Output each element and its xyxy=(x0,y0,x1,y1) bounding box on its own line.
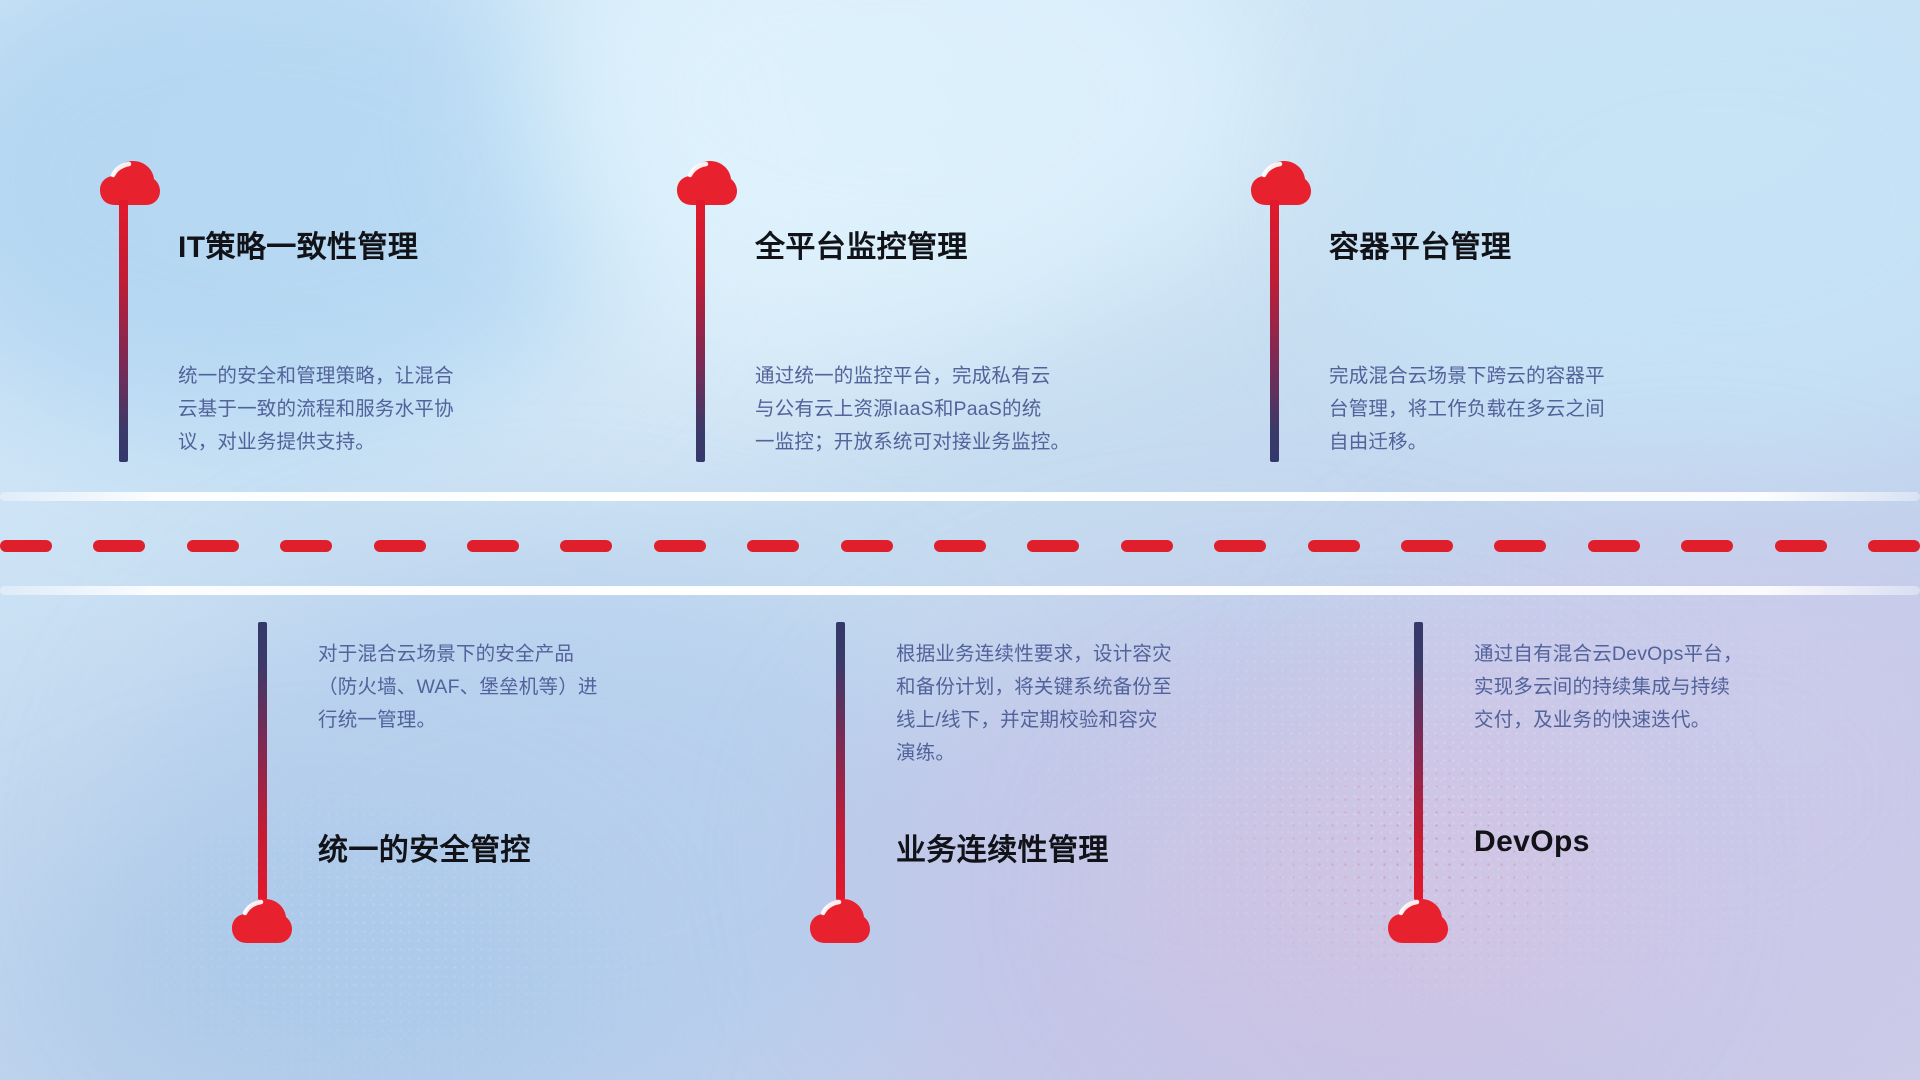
card-title: 容器平台管理 xyxy=(1329,222,1511,266)
card-title: 业务连续性管理 xyxy=(896,825,1109,869)
divider-dash xyxy=(467,540,519,552)
cloud-icon xyxy=(1251,160,1311,206)
infographic-canvas: IT策略一致性管理 统一的安全和管理策略，让混合 云基于一致的流程和服务水平协 … xyxy=(0,0,1920,1080)
card-description: 通过自有混合云DevOps平台， 实现多云间的持续集成与持续 交付，及业务的快速… xyxy=(1474,638,1904,737)
divider-dash xyxy=(654,540,706,552)
divider-dash xyxy=(1868,540,1920,552)
divider-dash xyxy=(934,540,986,552)
cloud-icon xyxy=(1388,898,1448,944)
divider-dash xyxy=(1308,540,1360,552)
divider-dash xyxy=(187,540,239,552)
divider-dash xyxy=(1681,540,1733,552)
connector-stem xyxy=(258,622,267,900)
divider-dash xyxy=(0,540,52,552)
divider-rule-bottom xyxy=(0,586,1920,595)
divider-dash xyxy=(1401,540,1453,552)
connector-stem xyxy=(696,200,705,462)
background-blob xyxy=(1340,520,1920,1060)
divider-dash xyxy=(1775,540,1827,552)
divider-dash xyxy=(1494,540,1546,552)
connector-stem xyxy=(1270,200,1279,462)
cloud-icon xyxy=(810,898,870,944)
card-description: 对于混合云场景下的安全产品 （防火墙、WAF、堡垒机等）进 行统一管理。 xyxy=(318,638,748,737)
card-description: 根据业务连续性要求，设计容灾 和备份计划，将关键系统备份至 线上/线下，并定期校… xyxy=(896,638,1336,770)
divider-dash xyxy=(1121,540,1173,552)
card-description: 通过统一的监控平台，完成私有云 与公有云上资源IaaS和PaaS的统 一监控；开… xyxy=(755,360,1205,459)
divider-dash xyxy=(1027,540,1079,552)
card-description: 完成混合云场景下跨云的容器平 台管理，将工作负载在多云之间 自由迁移。 xyxy=(1329,360,1769,459)
divider-dash xyxy=(93,540,145,552)
divider-dash xyxy=(280,540,332,552)
card-description: 统一的安全和管理策略，让混合 云基于一致的流程和服务水平协 议，对业务提供支持。 xyxy=(178,360,608,459)
connector-stem xyxy=(836,622,845,900)
card-title: IT策略一致性管理 xyxy=(178,222,418,266)
card-title: 全平台监控管理 xyxy=(755,222,968,266)
cloud-icon xyxy=(100,160,160,206)
cloud-icon xyxy=(677,160,737,206)
divider-dash xyxy=(747,540,799,552)
divider-dash xyxy=(374,540,426,552)
background-blob xyxy=(520,0,1280,340)
card-title: 统一的安全管控 xyxy=(318,825,531,869)
divider-dash xyxy=(1214,540,1266,552)
divider-dash xyxy=(560,540,612,552)
cloud-icon xyxy=(232,898,292,944)
connector-stem xyxy=(1414,622,1423,900)
divider-dashed-line xyxy=(0,540,1920,552)
divider-dash xyxy=(1588,540,1640,552)
connector-stem xyxy=(119,200,128,462)
card-title: DevOps xyxy=(1474,825,1590,859)
divider-dash xyxy=(841,540,893,552)
divider-rule-top xyxy=(0,492,1920,501)
